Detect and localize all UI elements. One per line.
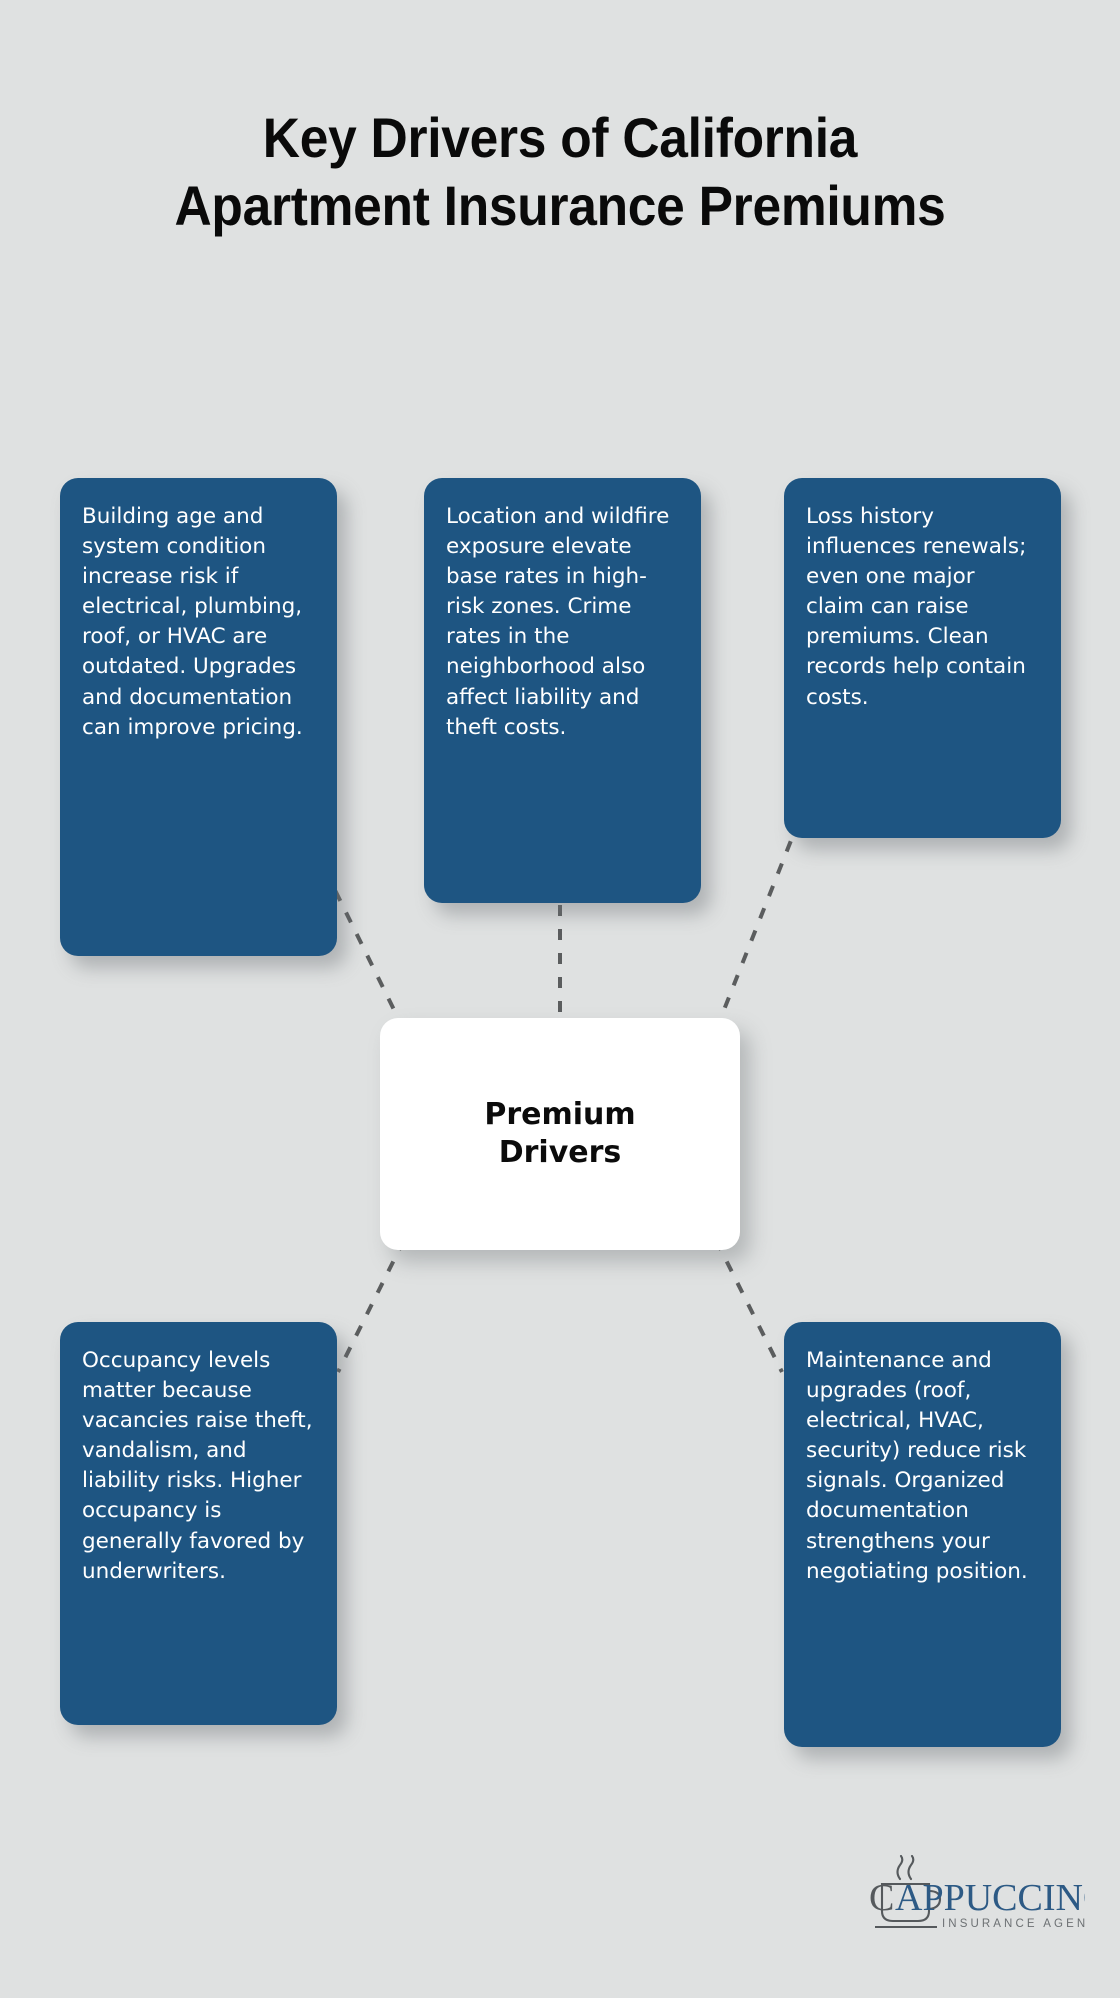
logo-svg: C APPUCCINO INSURANCE AGENCY (855, 1855, 1085, 1941)
connector-center-to-loss-history (716, 838, 792, 1030)
connector-center-to-maintenance (716, 1240, 782, 1372)
driver-card-text: Maintenance and upgrades (roof, electric… (806, 1346, 1039, 1587)
steam-icon (898, 1856, 914, 1879)
connector-center-to-building-age (330, 880, 404, 1030)
driver-card-occupancy-levels[interactable]: Occupancy levels matter because vacancie… (60, 1322, 337, 1725)
driver-card-loss-history[interactable]: Loss history influences renewals; even o… (784, 478, 1061, 838)
driver-card-text: Building age and system condition increa… (82, 502, 315, 743)
driver-card-text: Loss history influences renewals; even o… (806, 502, 1039, 713)
driver-card-text: Location and wildfire exposure elevate b… (446, 502, 679, 743)
driver-card-maintenance-upgrades[interactable]: Maintenance and upgrades (roof, electric… (784, 1322, 1061, 1747)
logo-brand-initial: C (869, 1877, 894, 1919)
driver-card-location-wildfire[interactable]: Location and wildfire exposure elevate b… (424, 478, 701, 903)
driver-card-building-age[interactable]: Building age and system condition increa… (60, 478, 337, 956)
logo-brand-rest: APPUCCINO (895, 1877, 1085, 1919)
page-title: Key Drivers of California Apartment Insu… (174, 104, 947, 240)
company-logo[interactable]: C APPUCCINO INSURANCE AGENCY (855, 1855, 1085, 1941)
driver-card-text: Occupancy levels matter because vacancie… (82, 1346, 315, 1587)
connector-center-to-occupancy (338, 1240, 404, 1372)
logo-tagline: INSURANCE AGENCY (942, 1918, 1085, 1930)
center-node-label: Premium Drivers (484, 1096, 635, 1173)
center-node[interactable]: Premium Drivers (380, 1018, 740, 1250)
infographic-page: Key Drivers of California Apartment Insu… (0, 0, 1120, 1998)
